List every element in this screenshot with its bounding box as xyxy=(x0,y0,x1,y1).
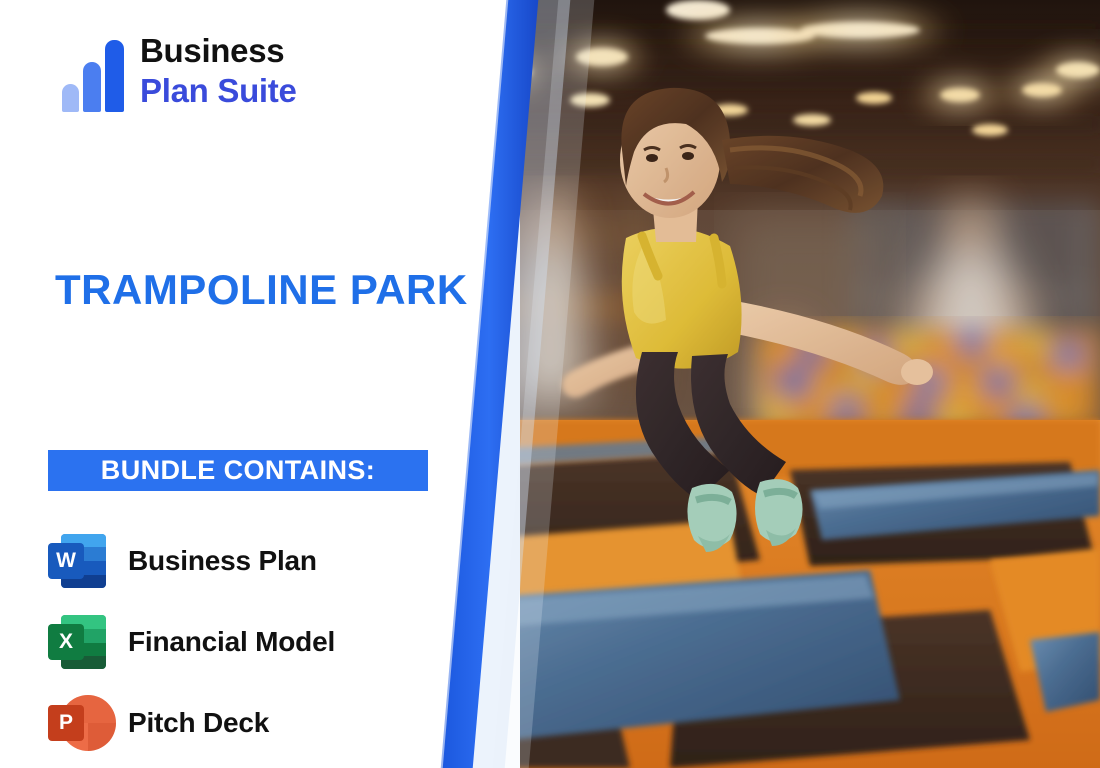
bundle-contains-label: BUNDLE CONTAINS: xyxy=(101,455,375,486)
brand-wordmark: Business Plan Suite xyxy=(140,34,297,107)
logo-bar-small xyxy=(62,84,79,112)
brand-line-2: Plan Suite xyxy=(140,74,297,107)
list-item: P Pitch Deck xyxy=(48,682,438,763)
excel-letter-tab: X xyxy=(48,624,84,660)
bundle-item-label: Financial Model xyxy=(128,626,335,658)
bundle-item-list: W Business Plan X Financial Model xyxy=(48,520,438,763)
microsoft-word-icon: W xyxy=(48,531,108,591)
bundle-contains-banner: BUNDLE CONTAINS: xyxy=(48,450,428,491)
poster-canvas: Business Plan Suite TRAMPOLINE PARK BUND… xyxy=(0,0,1100,768)
microsoft-powerpoint-icon: P xyxy=(48,693,108,753)
list-item: W Business Plan xyxy=(48,520,438,601)
list-item: X Financial Model xyxy=(48,601,438,682)
logo-bar-medium xyxy=(83,62,101,112)
trampoline-park-photo xyxy=(430,0,1100,768)
microsoft-excel-icon: X xyxy=(48,612,108,672)
bundle-item-label: Pitch Deck xyxy=(128,707,269,739)
bar-chart-logo-icon xyxy=(62,38,126,112)
word-letter-tab: W xyxy=(48,543,84,579)
brand-line-1: Business xyxy=(140,34,297,67)
powerpoint-shade-lower xyxy=(88,723,116,751)
logo-bar-large xyxy=(105,40,124,112)
page-title: TRAMPOLINE PARK xyxy=(55,266,468,314)
powerpoint-letter-tab: P xyxy=(48,705,84,741)
brand-logo: Business Plan Suite xyxy=(62,34,297,112)
bundle-item-label: Business Plan xyxy=(128,545,317,577)
